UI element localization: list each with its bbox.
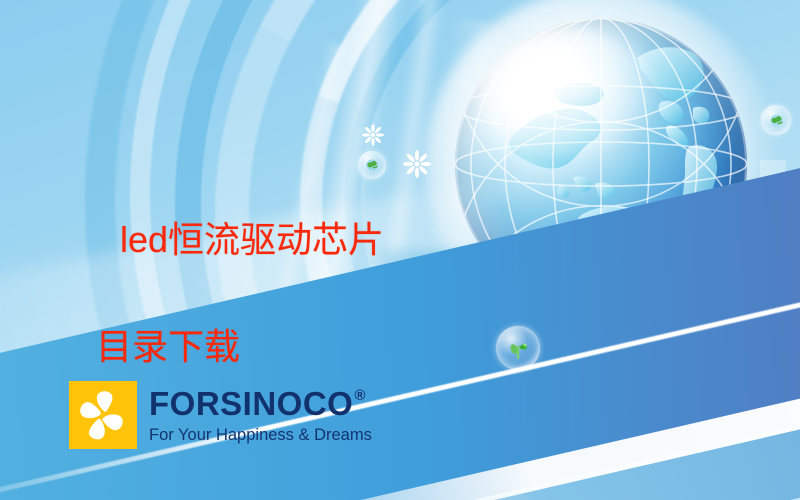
registered-trademark-icon: ® — [354, 388, 366, 403]
logo-wordmark: FORSINOCO ® — [149, 387, 372, 420]
forsinoco-logo[interactable]: FORSINOCO ® For Your Happiness & Dreams — [69, 381, 372, 449]
logo-wordmark-text: FORSINOCO — [149, 387, 353, 420]
headline-line-2: 目录下载 — [80, 320, 384, 373]
promo-banner: led恒流驱动芯片 目录下载 FORSINOCO ® For Your Happ… — [0, 0, 800, 500]
green-earth-icon — [769, 113, 784, 128]
logo-tagline: For Your Happiness & Dreams — [149, 427, 372, 444]
bubble-globe-corner — [761, 105, 791, 135]
logo-text-block: FORSINOCO ® For Your Happiness & Dreams — [149, 387, 372, 444]
headline-line-1: led恒流驱动芯片 — [120, 219, 384, 260]
bubble-seedling — [496, 326, 540, 370]
forsinoco-pinwheel-mark — [69, 381, 137, 449]
green-seedling-icon — [506, 336, 530, 360]
